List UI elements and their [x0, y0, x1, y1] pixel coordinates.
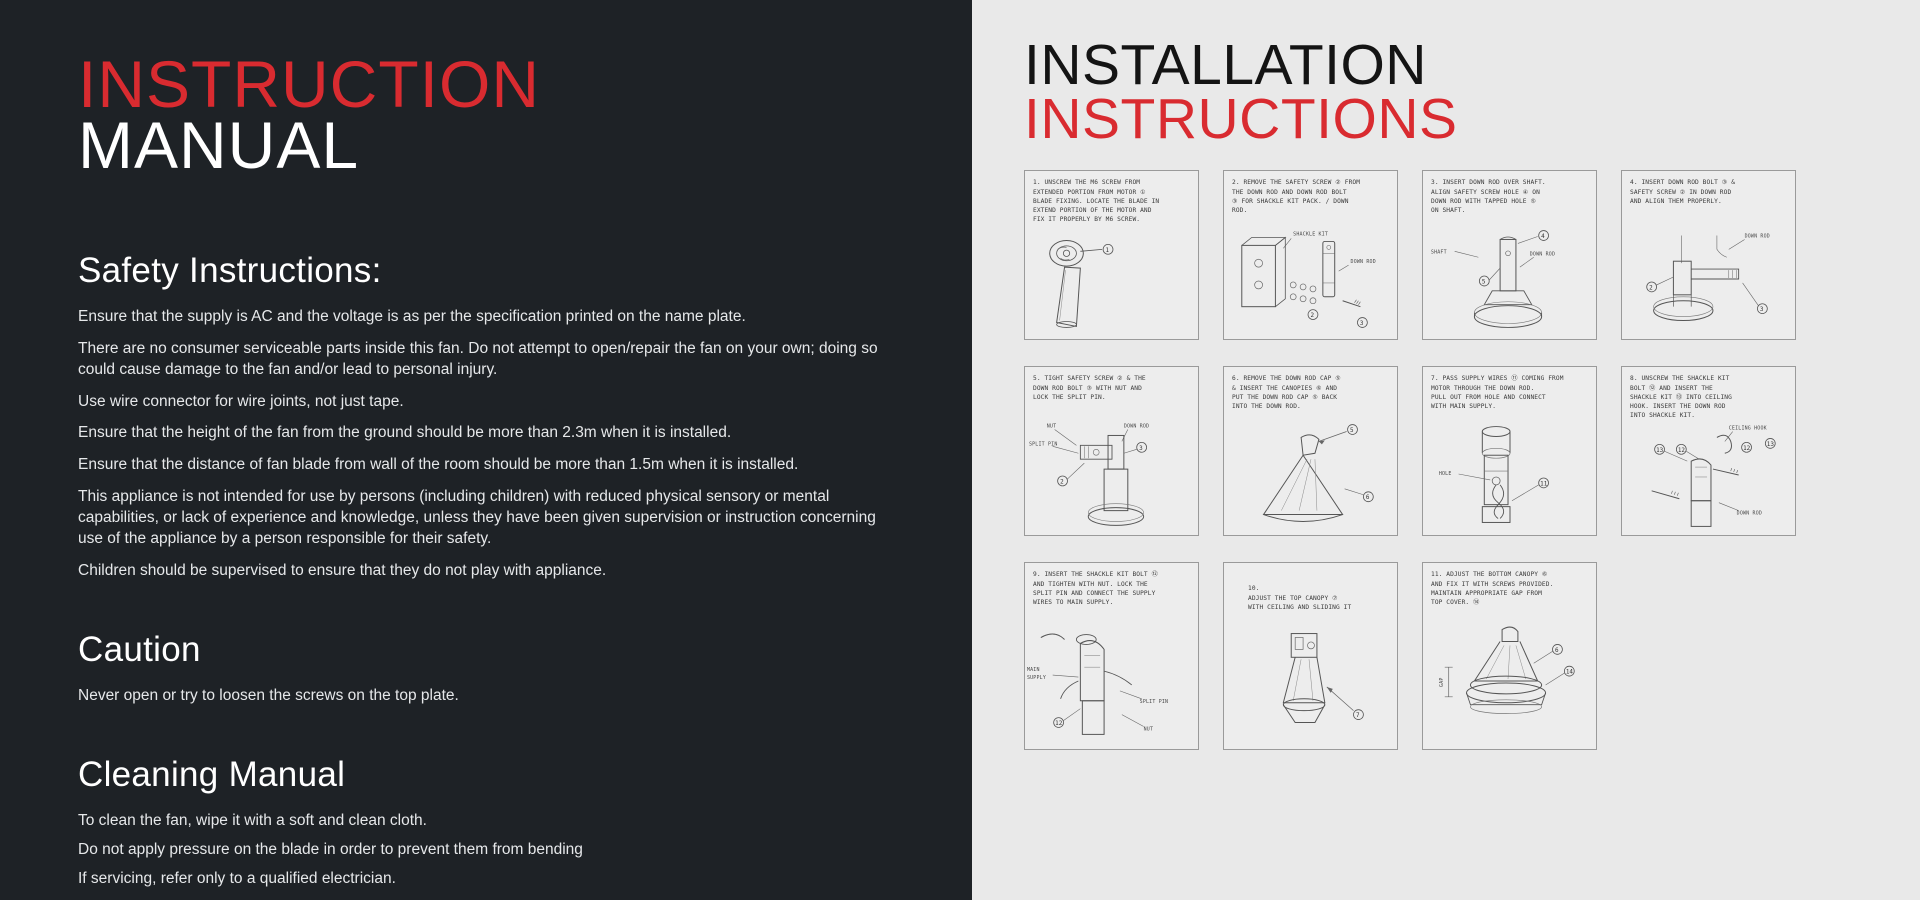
label-down-rod: DOWN ROD: [1737, 511, 1762, 517]
step-6-text: 6. REMOVE THE DOWN ROD CAP ⑤ & INSERT TH…: [1232, 374, 1389, 411]
label-down-rod: DOWN ROD: [1124, 424, 1149, 430]
step-3-diagram: 4 SHAFT DOWN ROD 5: [1423, 223, 1596, 335]
svg-text:6: 6: [1555, 647, 1559, 654]
label-down-rod: DOWN ROD: [1351, 259, 1376, 265]
svg-text:2: 2: [1649, 285, 1653, 292]
svg-text:12: 12: [1055, 720, 1063, 727]
step-2-diagram: SHACKLE KIT DOWN ROD: [1224, 223, 1397, 335]
caution-heading: Caution: [78, 630, 912, 670]
label-down-rod: DOWN ROD: [1745, 234, 1770, 240]
step-10-diagram: 7: [1224, 619, 1397, 745]
step-card-10: 10. ADJUST THE TOP CANOPY ⑦ WITH CEILING…: [1223, 562, 1398, 750]
cleaning-body: To clean the fan, wipe it with a soft an…: [78, 811, 912, 900]
step-7-diagram: HOLE 11: [1423, 419, 1596, 531]
step-8-diagram: CEILING HOOK 13 12 12 13: [1622, 419, 1795, 531]
safety-item: Ensure that the height of the fan from t…: [78, 423, 878, 444]
step-card-1: 1. UNSCREW THE M6 SCREW FROM EXTENDED PO…: [1024, 170, 1199, 340]
caution-body: Never open or try to loosen the screws o…: [78, 686, 912, 707]
cover-title-line2: MANUAL: [78, 115, 912, 176]
safety-item: Ensure that the supply is AC and the vol…: [78, 307, 878, 328]
step-11-diagram: GAP 6 14: [1423, 619, 1596, 745]
step-4-diagram: DOWN ROD 2 3: [1622, 223, 1795, 335]
installation-steps-grid: 1. UNSCREW THE M6 SCREW FROM EXTENDED PO…: [1024, 170, 1894, 750]
svg-text:7: 7: [1356, 712, 1360, 719]
label-shackle-kit: SHACKLE KIT: [1293, 232, 1328, 238]
step-8-text: 8. UNSCREW THE SHACKLE KIT BOLT ⑫ AND IN…: [1630, 374, 1787, 420]
svg-text:2: 2: [1311, 312, 1315, 319]
label-shaft: SHAFT: [1431, 250, 1447, 256]
svg-text:13: 13: [1656, 447, 1664, 454]
svg-text:12: 12: [1678, 447, 1686, 454]
caution-item: Never open or try to loosen the screws o…: [78, 686, 878, 707]
svg-text:3: 3: [1360, 320, 1364, 327]
step-5-diagram: NUT DOWN ROD SPLIT PIN 3: [1025, 419, 1198, 531]
svg-text:4: 4: [1541, 233, 1545, 240]
cleaning-heading: Cleaning Manual: [78, 755, 912, 795]
step-1-diagram: 1: [1025, 223, 1198, 335]
label-main-supply-2: SUPPLY: [1027, 675, 1046, 681]
label-nut: NUT: [1047, 424, 1057, 430]
cover-title-line1: INSTRUCTION: [78, 54, 912, 115]
svg-text:2: 2: [1060, 479, 1064, 486]
step-11-text: 11. ADJUST THE BOTTOM CANOPY ⑥ AND FIX I…: [1431, 570, 1588, 607]
svg-text:13: 13: [1767, 441, 1775, 448]
cleaning-item: To clean the fan, wipe it with a soft an…: [78, 811, 878, 832]
step-9-diagram: MAIN SUPPLY 12 SPLIT PIN NUT: [1025, 619, 1198, 745]
step-card-5: 5. TIGHT SAFETY SCREW ② & THE DOWN ROD B…: [1024, 366, 1199, 536]
safety-item: There are no consumer serviceable parts …: [78, 339, 878, 381]
svg-text:1: 1: [1106, 247, 1110, 254]
svg-text:3: 3: [1139, 445, 1143, 452]
label-main-supply: MAIN: [1027, 667, 1040, 673]
step-card-4: 4. INSERT DOWN ROD BOLT ③ & SAFETY SCREW…: [1621, 170, 1796, 340]
installation-title-line2: INSTRUCTIONS: [1024, 92, 1888, 146]
label-ceiling-hook: CEILING HOOK: [1729, 426, 1767, 432]
safety-instructions-section: Safety Instructions: Ensure that the sup…: [78, 251, 912, 582]
svg-text:11: 11: [1540, 481, 1548, 488]
installation-title-line1: INSTALLATION: [1024, 38, 1888, 92]
svg-text:5: 5: [1482, 279, 1486, 286]
svg-text:6: 6: [1366, 495, 1370, 502]
step-3-text: 3. INSERT DOWN ROD OVER SHAFT. ALIGN SAF…: [1431, 178, 1588, 215]
safety-item: Use wire connector for wire joints, not …: [78, 392, 878, 413]
label-down-rod: DOWN ROD: [1530, 252, 1555, 258]
step-card-9: 9. INSERT THE SHACKLE KIT BOLT ⑫ AND TIG…: [1024, 562, 1199, 750]
safety-body: Ensure that the supply is AC and the vol…: [78, 307, 912, 582]
manual-page: INSTRUCTION MANUAL Safety Instructions: …: [0, 0, 1920, 900]
step-10-text: 10. ADJUST THE TOP CANOPY ⑦ WITH CEILING…: [1232, 570, 1389, 612]
svg-text:3: 3: [1760, 306, 1764, 313]
label-nut: NUT: [1144, 727, 1154, 733]
caution-section: Caution Never open or try to loosen the …: [78, 630, 912, 707]
label-hole: HOLE: [1439, 471, 1452, 477]
step-9-text: 9. INSERT THE SHACKLE KIT BOLT ⑫ AND TIG…: [1033, 570, 1190, 607]
cleaning-manual-section: Cleaning Manual To clean the fan, wipe i…: [78, 755, 912, 900]
step-card-11: 11. ADJUST THE BOTTOM CANOPY ⑥ AND FIX I…: [1422, 562, 1597, 750]
installation-title: INSTALLATION INSTRUCTIONS: [1024, 38, 1888, 146]
safety-item: Ensure that the distance of fan blade fr…: [78, 455, 878, 476]
label-gap: GAP: [1439, 678, 1445, 688]
safety-item: Children should be supervised to ensure …: [78, 561, 878, 582]
svg-text:14: 14: [1566, 669, 1574, 676]
cleaning-item: Do not apply pressure on the blade in or…: [78, 840, 878, 861]
step-2-text: 2. REMOVE THE SAFETY SCREW ② FROM THE DO…: [1232, 178, 1389, 215]
safety-heading: Safety Instructions:: [78, 251, 912, 291]
installation-panel: INSTALLATION INSTRUCTIONS 1. UNSCREW THE…: [972, 0, 1920, 900]
cover-panel: INSTRUCTION MANUAL Safety Instructions: …: [0, 0, 972, 900]
step-1-text: 1. UNSCREW THE M6 SCREW FROM EXTENDED PO…: [1033, 178, 1190, 224]
svg-text:5: 5: [1350, 427, 1354, 434]
step-5-text: 5. TIGHT SAFETY SCREW ② & THE DOWN ROD B…: [1033, 374, 1190, 402]
svg-text:12: 12: [1743, 445, 1751, 452]
cleaning-item: If servicing, refer only to a qualified …: [78, 869, 878, 890]
step-card-2: 2. REMOVE THE SAFETY SCREW ② FROM THE DO…: [1223, 170, 1398, 340]
step-card-7: 7. PASS SUPPLY WIRES ⑪ COMING FROM MOTOR…: [1422, 366, 1597, 536]
step-card-8: 8. UNSCREW THE SHACKLE KIT BOLT ⑫ AND IN…: [1621, 366, 1796, 536]
safety-item: This appliance is not intended for use b…: [78, 487, 878, 550]
step-card-3: 3. INSERT DOWN ROD OVER SHAFT. ALIGN SAF…: [1422, 170, 1597, 340]
cover-title: INSTRUCTION MANUAL: [78, 54, 912, 177]
step-card-6: 6. REMOVE THE DOWN ROD CAP ⑤ & INSERT TH…: [1223, 366, 1398, 536]
step-6-diagram: 5 6: [1224, 419, 1397, 531]
step-7-text: 7. PASS SUPPLY WIRES ⑪ COMING FROM MOTOR…: [1431, 374, 1588, 411]
step-4-text: 4. INSERT DOWN ROD BOLT ③ & SAFETY SCREW…: [1630, 178, 1787, 206]
label-split-pin: SPLIT PIN: [1140, 699, 1169, 705]
